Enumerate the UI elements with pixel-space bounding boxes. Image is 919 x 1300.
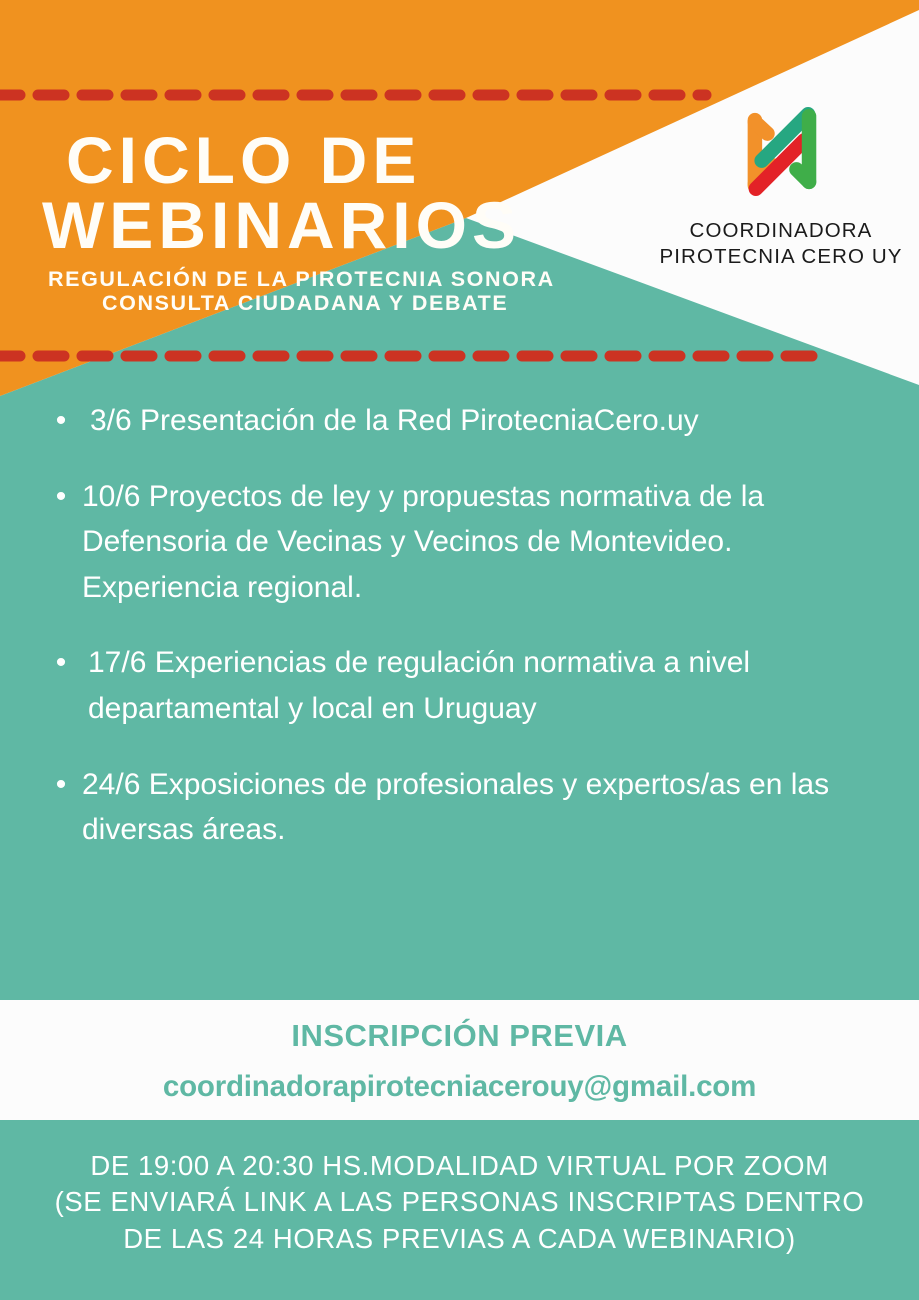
poster-title-line-1: CICLO DE <box>42 128 602 193</box>
bullet-icon: • <box>40 398 82 444</box>
agenda-item-text: 10/6 Proyectos de ley y propuestas norma… <box>82 474 900 611</box>
poster-title-line-2: WEBINARIOS <box>42 193 602 258</box>
bullet-icon: • <box>40 474 82 520</box>
header-title-block: CICLO DE WEBINARIOS REGULACIÓN DE LA PIR… <box>42 128 602 316</box>
webinar-agenda-list: • 3/6 Presentación de la Red PirotecniaC… <box>40 398 900 883</box>
footer-line-3: DE LAS 24 HORAS PREVIAS A CADA WEBINARIO… <box>0 1221 919 1257</box>
registration-heading: INSCRIPCIÓN PREVIA <box>291 1018 627 1054</box>
footer-line-2: (SE ENVIARÁ LINK A LAS PERSONAS INSCRIPT… <box>0 1184 919 1220</box>
footer-band: DE 19:00 A 20:30 HS.MODALIDAD VIRTUAL PO… <box>0 1120 919 1300</box>
poster-subtitle-line-2: CONSULTA CIUDADANA Y DEBATE <box>42 291 602 315</box>
registration-email-address[interactable]: coordinadorapirotecniacerouy@gmail.com <box>163 1070 756 1104</box>
poster-subtitle-line-1: REGULACIÓN DE LA PIROTECNIA SONORA <box>42 267 602 291</box>
footer-line-1: DE 19:00 A 20:30 HS.MODALIDAD VIRTUAL PO… <box>0 1148 919 1184</box>
poster-canvas: CICLO DE WEBINARIOS REGULACIÓN DE LA PIR… <box>0 0 919 1300</box>
agenda-list-item: • 17/6 Experiencias de regulación normat… <box>40 640 900 731</box>
registration-band: INSCRIPCIÓN PREVIA coordinadorapirotecni… <box>0 1000 919 1120</box>
agenda-item-text: 3/6 Presentación de la Red PirotecniaCer… <box>82 398 900 444</box>
agenda-list-item: • 10/6 Proyectos de ley y propuestas nor… <box>40 474 900 611</box>
logo-text-line-1: COORDINADORA <box>650 218 912 244</box>
agenda-item-text: 24/6 Exposiciones de profesionales y exp… <box>82 762 900 853</box>
agenda-item-text: 17/6 Experiencias de regulación normativ… <box>82 640 900 731</box>
agenda-list-item: • 3/6 Presentación de la Red PirotecniaC… <box>40 398 900 444</box>
coordinadora-pirotecnia-cero-logo-icon <box>723 92 839 210</box>
poster-subtitle-block: REGULACIÓN DE LA PIROTECNIA SONORA CONSU… <box>42 267 602 315</box>
organization-logo-block: COORDINADORA PIROTECNIA CERO UY <box>650 92 912 270</box>
bullet-icon: • <box>40 762 82 808</box>
logo-text-line-2: PIROTECNIA CERO UY <box>650 244 912 270</box>
bullet-icon: • <box>40 640 82 686</box>
agenda-list-item: • 24/6 Exposiciones de profesionales y e… <box>40 762 900 853</box>
